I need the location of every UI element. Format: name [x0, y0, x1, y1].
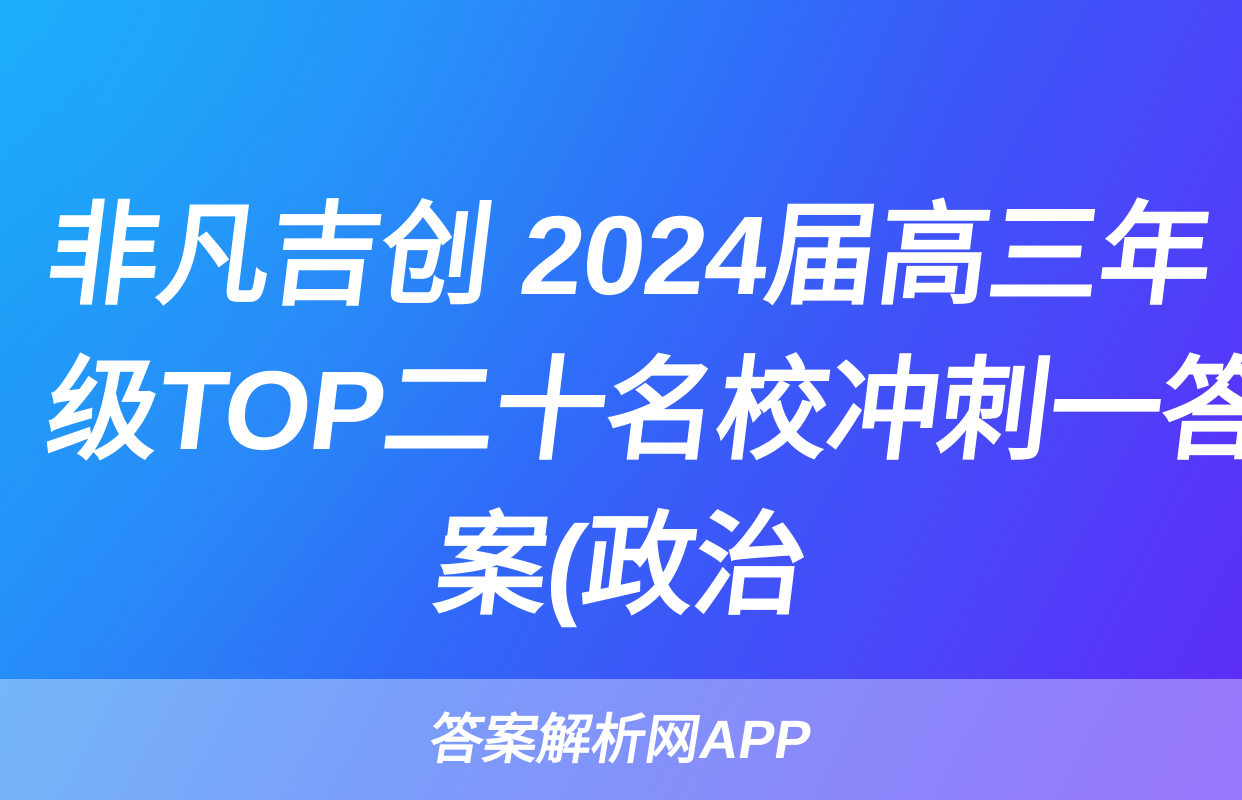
page-title: 非凡吉创 2024届高三年 级TOP二十名校冲刺一答 案(政治	[0, 178, 1242, 643]
headline-line-1: 非凡吉创 2024届高三年	[38, 178, 1203, 333]
watermark-brand-label: 答案解析网APP	[426, 713, 816, 767]
footer-band: 答案解析网APP	[0, 679, 1242, 800]
promo-card: 非凡吉创 2024届高三年 级TOP二十名校冲刺一答 案(政治 答案解析网APP	[0, 0, 1242, 800]
headline-line-3: 案(政治	[38, 488, 1203, 643]
headline-line-2: 级TOP二十名校冲刺一答	[38, 333, 1203, 488]
